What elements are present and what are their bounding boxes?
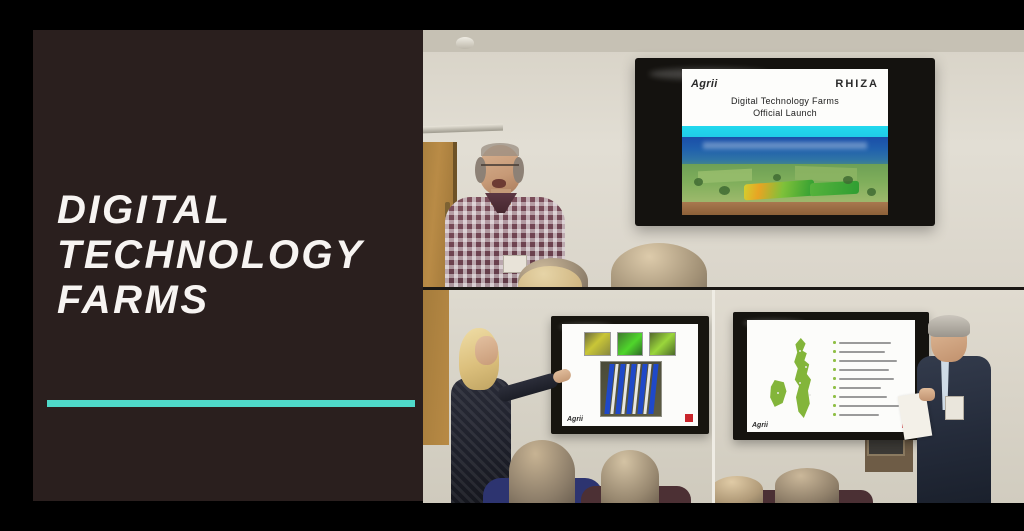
page-title: DIGITAL TECHNOLOGY FARMS bbox=[57, 188, 407, 323]
tree bbox=[719, 186, 730, 195]
ceiling bbox=[423, 30, 1024, 52]
title-line-1: DIGITAL bbox=[57, 188, 407, 233]
bullet-icon bbox=[833, 413, 836, 416]
bullet-icon bbox=[833, 341, 836, 344]
tree bbox=[843, 176, 853, 184]
presenter-man-navy-blazer bbox=[911, 318, 1023, 503]
bullet-icon bbox=[833, 395, 836, 398]
uk-map-graphic bbox=[769, 336, 823, 420]
slide-header: Agrii RHIZA Digital Technology Farms Off… bbox=[682, 69, 888, 126]
agrii-logo: Agrii bbox=[752, 422, 768, 429]
slide-title-line-1: Digital Technology Farms bbox=[682, 95, 888, 107]
field-thumbnail bbox=[584, 332, 611, 356]
field-thumbnail bbox=[649, 332, 676, 356]
list-item bbox=[833, 365, 909, 374]
wall-screen-imagery: Agrii bbox=[551, 316, 709, 434]
rhiza-logo: RHIZA bbox=[835, 78, 879, 90]
audience-head bbox=[601, 450, 659, 503]
title-line-2: TECHNOLOGY bbox=[57, 233, 407, 278]
list-item bbox=[833, 374, 909, 383]
agrii-logo: Agrii bbox=[567, 416, 583, 423]
wall-bracket bbox=[423, 124, 503, 134]
bullet-icon bbox=[833, 386, 836, 389]
audience-head bbox=[509, 440, 575, 503]
face bbox=[475, 336, 498, 365]
audience-head bbox=[715, 476, 763, 503]
slide-main: Agrii RHIZA Digital Technology Farms Off… bbox=[682, 69, 888, 215]
mouth bbox=[492, 179, 506, 188]
agrii-logo: Agrii bbox=[691, 78, 718, 90]
thumbnail-row bbox=[584, 332, 676, 356]
crop-heatmap-overlay-2 bbox=[810, 181, 859, 197]
photo-bottom-right-presenter: Agrii bbox=[715, 290, 1024, 503]
accent-bar bbox=[47, 400, 415, 407]
bullet-list bbox=[833, 338, 909, 419]
bullet-icon bbox=[833, 404, 836, 407]
name-badge bbox=[945, 396, 964, 420]
hand bbox=[919, 388, 935, 401]
glasses-icon bbox=[481, 164, 519, 171]
list-item bbox=[833, 356, 909, 365]
photo-bottom-left-presenter: Agrii bbox=[423, 290, 712, 503]
slide-title-line-2: Official Launch bbox=[682, 107, 888, 119]
hair bbox=[481, 143, 519, 156]
haze bbox=[703, 142, 868, 149]
bullet-icon bbox=[833, 377, 836, 380]
letterbox-bottom bbox=[0, 503, 1024, 531]
title-panel: DIGITAL TECHNOLOGY FARMS bbox=[33, 30, 423, 501]
trial-plot-image bbox=[600, 361, 662, 417]
tree bbox=[773, 174, 781, 181]
screenshot-frame: DIGITAL TECHNOLOGY FARMS Agrii RHIZA bbox=[0, 0, 1024, 531]
list-item bbox=[833, 347, 909, 356]
field-thumbnail bbox=[617, 332, 644, 356]
list-item bbox=[833, 410, 909, 419]
audience-head bbox=[611, 243, 707, 287]
wall-screen-uk-map: Agrii bbox=[733, 312, 929, 440]
wall-screen-main: Agrii RHIZA Digital Technology Farms Off… bbox=[635, 58, 935, 226]
ireland-shape bbox=[769, 380, 788, 408]
audience-head bbox=[775, 468, 839, 503]
photo-top-presenter: Agrii RHIZA Digital Technology Farms Off… bbox=[423, 30, 1024, 287]
smoke-detector-icon bbox=[456, 37, 474, 49]
grey-hair bbox=[928, 315, 970, 337]
bare-soil-foreground bbox=[682, 202, 888, 215]
bullet-icon bbox=[833, 350, 836, 353]
slide-title: Digital Technology Farms Official Launch bbox=[682, 95, 888, 119]
great-britain-shape bbox=[787, 338, 817, 418]
list-item bbox=[833, 338, 909, 347]
photo-collage: Agrii RHIZA Digital Technology Farms Off… bbox=[423, 30, 1024, 503]
list-item bbox=[833, 383, 909, 392]
bullet-icon bbox=[833, 368, 836, 371]
landscape-image bbox=[682, 126, 888, 215]
letterbox-top bbox=[0, 0, 1024, 30]
list-item bbox=[833, 401, 909, 410]
slide-imagery: Agrii bbox=[562, 324, 698, 426]
letterbox-left bbox=[0, 0, 33, 531]
bullet-icon bbox=[833, 359, 836, 362]
title-line-3: FARMS bbox=[57, 278, 407, 323]
partner-logo-mark bbox=[685, 414, 693, 422]
slide-uk-map: Agrii bbox=[747, 320, 915, 432]
